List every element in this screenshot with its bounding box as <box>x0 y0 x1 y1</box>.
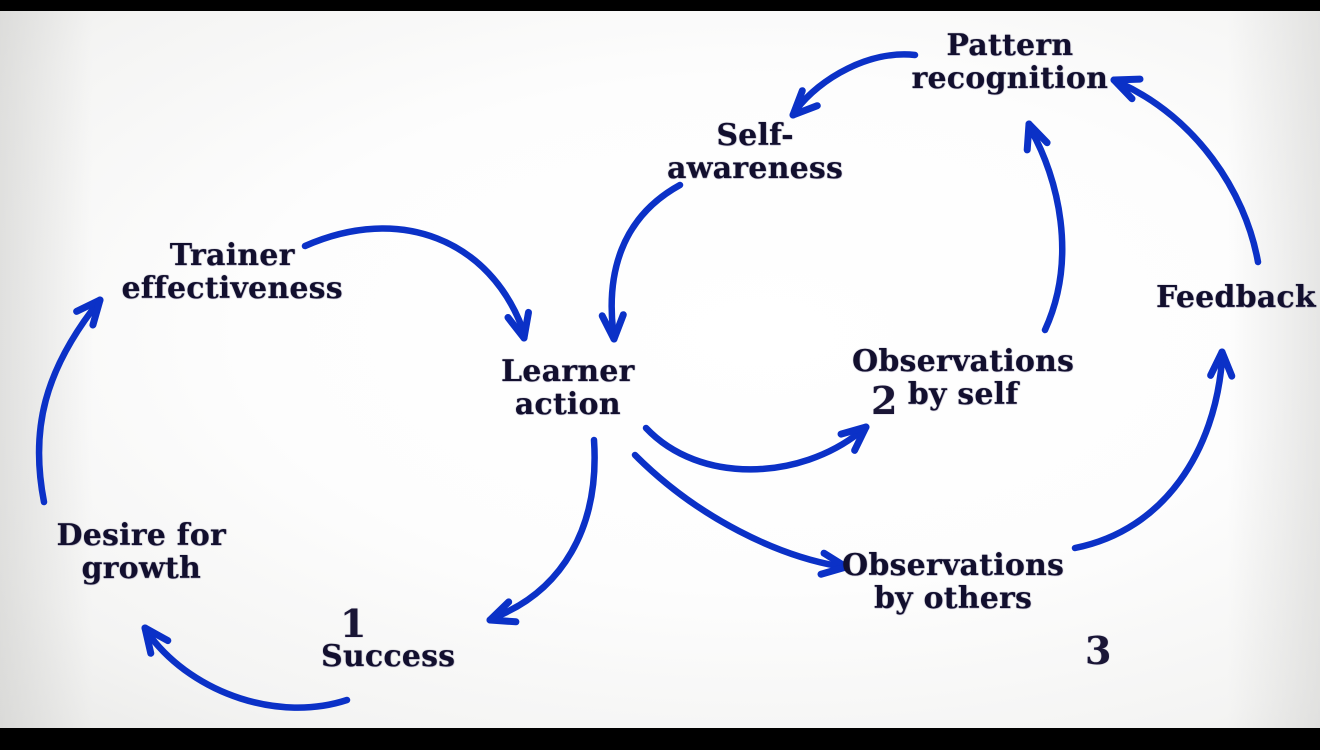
arrow-path <box>150 636 347 708</box>
node-label-observations-by-others: Observations by others <box>842 549 1064 616</box>
node-label-self-awareness: Self- awareness <box>667 119 843 186</box>
arrow-path <box>1031 130 1062 330</box>
loop-number-3: 3 <box>1085 628 1111 673</box>
arrow-layer <box>0 0 1320 750</box>
node-label-pattern-recognition: Pattern recognition <box>912 29 1109 96</box>
node-label-learner-action: Learner action <box>501 355 635 422</box>
arrow-path <box>796 54 915 110</box>
arrow-path <box>1075 360 1222 548</box>
arrow-path <box>1122 84 1258 262</box>
node-label-trainer-effectiveness: Trainer effectiveness <box>122 239 343 306</box>
loop-number-2: 2 <box>871 378 897 423</box>
arrow-path <box>646 428 860 469</box>
diagram-canvas: Pattern recognitionSelf- awarenessTraine… <box>0 0 1320 750</box>
arrow-path <box>498 440 595 616</box>
loop-number-1: 1 <box>340 601 366 646</box>
node-label-desire-for-growth: Desire for growth <box>57 519 226 586</box>
arrowhead-stroke <box>1114 79 1140 80</box>
node-label-feedback: Feedback <box>1156 281 1316 315</box>
arrow-path <box>39 300 100 502</box>
arrow-path <box>612 185 680 330</box>
